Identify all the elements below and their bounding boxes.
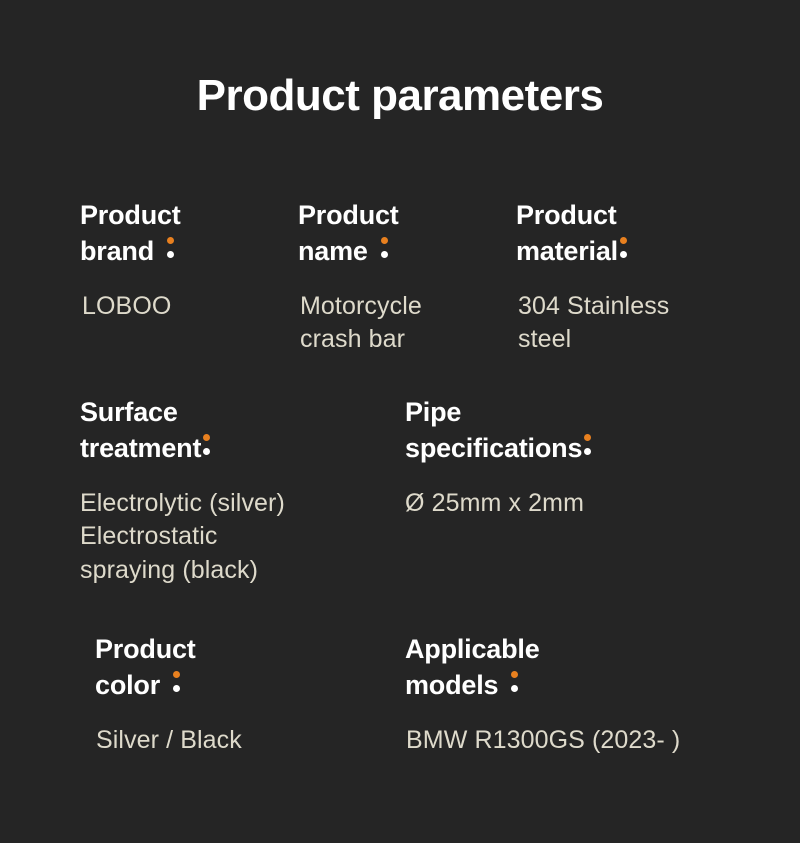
parameter-value: 304 Stainless steel xyxy=(516,290,780,357)
colon-icon xyxy=(620,233,629,260)
colon-icon xyxy=(511,667,520,694)
colon-icon xyxy=(173,667,182,694)
parameter-pipe-specifications: Pipe specifications Ø 25mm x 2mm xyxy=(405,395,745,520)
parameter-label-wrap: Applicable models xyxy=(405,632,765,702)
parameter-product-color: Product color Silver / Black xyxy=(95,632,405,757)
parameter-label: Product brand xyxy=(80,200,181,266)
parameter-product-name: Product name Motorcycle crash bar xyxy=(298,198,516,357)
product-parameters-panel: Product parameters Product brand LOBOO P… xyxy=(0,0,800,843)
colon-icon xyxy=(584,430,593,457)
colon-icon xyxy=(381,233,390,260)
parameter-label-wrap: Surface treatment xyxy=(80,395,405,465)
colon-icon xyxy=(167,233,176,260)
parameter-value: Ø 25mm x 2mm xyxy=(405,487,745,520)
parameter-label: Pipe specifications xyxy=(405,397,582,463)
parameter-value: LOBOO xyxy=(80,290,298,323)
parameter-label-wrap: Product material xyxy=(516,198,780,268)
parameter-row-3: Product color Silver / Black Applicable … xyxy=(95,632,785,757)
parameter-label: Surface treatment xyxy=(80,397,201,463)
parameter-row-1: Product brand LOBOO Product name Motorcy… xyxy=(80,198,780,357)
colon-icon xyxy=(203,430,212,457)
parameter-surface-treatment: Surface treatment Electrolytic (silver) … xyxy=(80,395,405,587)
parameter-value: Silver / Black xyxy=(95,724,405,757)
parameter-row-2: Surface treatment Electrolytic (silver) … xyxy=(80,395,780,587)
parameter-label-wrap: Pipe specifications xyxy=(405,395,745,465)
page-title: Product parameters xyxy=(0,72,800,120)
parameter-label: Product material xyxy=(516,200,618,266)
parameter-applicable-models: Applicable models BMW R1300GS (2023- ) xyxy=(405,632,765,757)
parameter-value: Motorcycle crash bar xyxy=(298,290,516,357)
parameter-label-wrap: Product name xyxy=(298,198,516,268)
parameter-label-wrap: Product color xyxy=(95,632,405,702)
parameter-value: BMW R1300GS (2023- ) xyxy=(405,724,765,757)
parameter-product-brand: Product brand LOBOO xyxy=(80,198,298,323)
parameter-value: Electrolytic (silver) Electrostatic spra… xyxy=(80,487,405,587)
parameter-label-wrap: Product brand xyxy=(80,198,298,268)
parameter-product-material: Product material 304 Stainless steel xyxy=(516,198,780,357)
